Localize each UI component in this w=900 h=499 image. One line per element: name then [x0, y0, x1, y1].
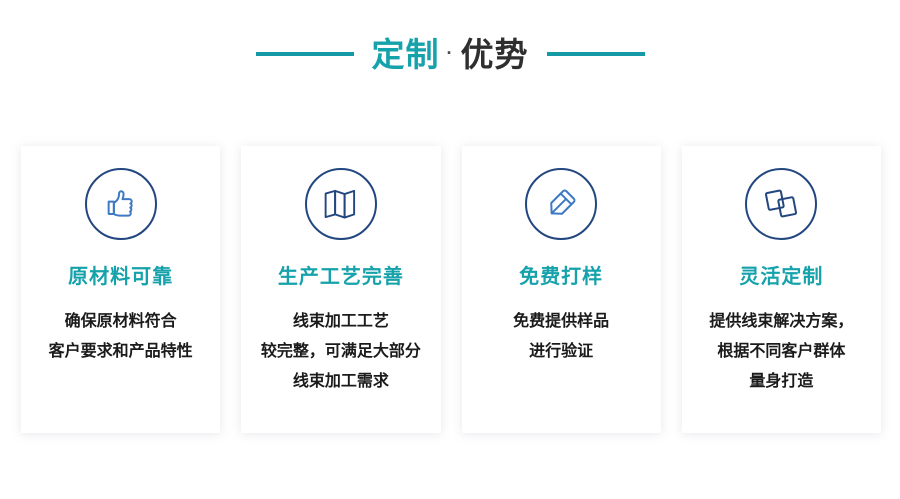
thumbs-up-icon [85, 168, 157, 240]
feature-card[interactable]: 生产工艺完善 线束加工工艺 较完整，可满足大部分 线束加工需求 [241, 146, 440, 433]
feature-card-body: 免费提供样品 进行验证 [513, 307, 609, 367]
feature-card-body-line: 提供线束解决方案， [709, 307, 853, 337]
folded-map-icon [305, 168, 377, 240]
feature-card-title: 原材料可靠 [68, 266, 173, 288]
feature-card-title: 生产工艺完善 [278, 266, 404, 288]
feature-card[interactable]: 灵活定制 提供线束解决方案， 根据不同客户群体 量身打造 [682, 146, 881, 433]
page-title-separator: · [440, 44, 461, 62]
feature-card-body-line: 确保原材料符合 [49, 307, 193, 337]
pencil-icon [525, 168, 597, 240]
feature-card-body-line: 量身打造 [709, 367, 853, 397]
feature-card-body-line: 根据不同客户群体 [709, 337, 853, 367]
feature-card-body-line: 进行验证 [513, 337, 609, 367]
feature-card-title: 免费打样 [519, 266, 603, 288]
feature-card-body: 线束加工工艺 较完整，可满足大部分 线束加工需求 [261, 307, 421, 397]
page-title-plain: 优势 [461, 38, 529, 71]
feature-card-title: 灵活定制 [739, 266, 823, 288]
heading-rule-right [547, 52, 645, 56]
feature-card-list: 原材料可靠 确保原材料符合 客户要求和产品特性 生产工艺完善 线束加工工艺 较完… [21, 146, 881, 433]
section-heading: 定制 · 优势 [0, 26, 900, 82]
feature-card-body-line: 线束加工需求 [261, 367, 421, 397]
stacked-cards-icon [745, 168, 817, 240]
feature-card[interactable]: 免费打样 免费提供样品 进行验证 [462, 146, 661, 433]
feature-card-body: 提供线束解决方案， 根据不同客户群体 量身打造 [709, 307, 853, 397]
feature-card[interactable]: 原材料可靠 确保原材料符合 客户要求和产品特性 [21, 146, 220, 433]
page-title: 定制 · 优势 [372, 38, 529, 71]
heading-rule-left [256, 52, 354, 56]
feature-card-body-line: 免费提供样品 [513, 307, 609, 337]
feature-card-body-line: 客户要求和产品特性 [49, 337, 193, 367]
feature-card-body-line: 较完整，可满足大部分 [261, 337, 421, 367]
page-title-accent: 定制 [372, 38, 440, 71]
feature-card-body: 确保原材料符合 客户要求和产品特性 [49, 307, 193, 367]
feature-card-body-line: 线束加工工艺 [261, 307, 421, 337]
